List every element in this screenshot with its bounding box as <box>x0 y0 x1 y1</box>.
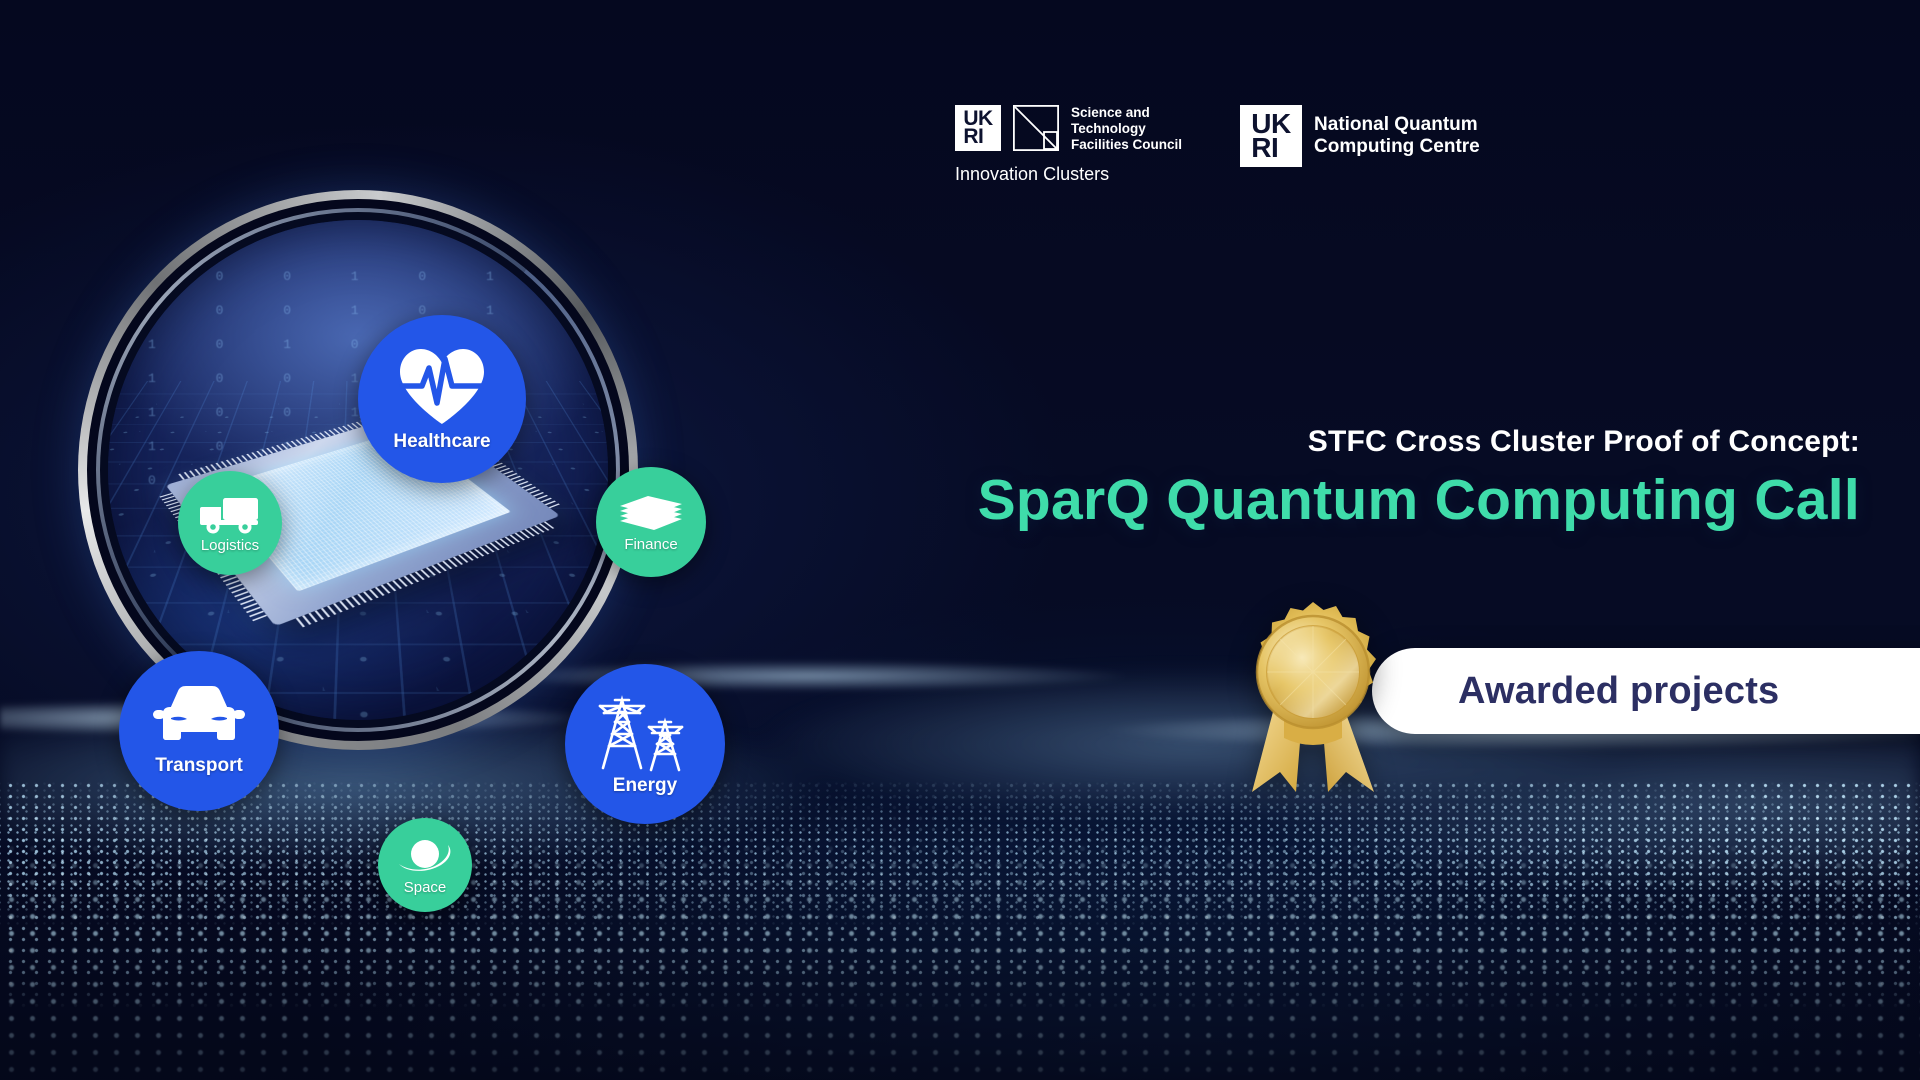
power-pylon-icon <box>595 692 695 772</box>
delivery-truck-icon <box>199 493 261 535</box>
sector-bubble-finance[interactable]: Finance <box>596 467 706 577</box>
headline-block: STFC Cross Cluster Proof of Concept: Spa… <box>740 425 1860 533</box>
nqcc-centre-name: National Quantum Computing Centre <box>1314 114 1480 159</box>
sector-label-energy: Energy <box>613 775 677 797</box>
circuit-board-disc: 1 0 0 1 0 1 1 0 0 1 0 1 1 0 1 0 0 1 1 0 … <box>108 220 608 720</box>
sector-bubble-energy[interactable]: Energy <box>565 664 725 824</box>
ukri-mark-icon: UKRI <box>1240 105 1302 167</box>
stfc-diagonal-glyph-icon <box>1013 105 1059 151</box>
sector-bubble-space[interactable]: Space <box>378 818 472 912</box>
logo-row-nqcc: UKRI National Quantum Computing Centre <box>1240 105 1480 167</box>
awarded-projects-label: Awarded projects <box>1458 670 1779 713</box>
logo-ukri-nqcc: UKRI National Quantum Computing Centre <box>1240 105 1480 167</box>
sector-label-finance: Finance <box>624 536 677 553</box>
logo-row-stfc: UKRI Science and Technology Facilities C… <box>955 105 1182 153</box>
particle-mesh-near <box>0 840 1920 1080</box>
sector-label-space: Space <box>404 879 447 896</box>
sector-label-healthcare: Healthcare <box>393 431 490 453</box>
logo-bar: UKRI Science and Technology Facilities C… <box>955 105 1480 185</box>
headline-eyebrow: STFC Cross Cluster Proof of Concept: <box>740 425 1860 459</box>
sector-label-logistics: Logistics <box>201 537 259 554</box>
innovation-clusters-label: Innovation Clusters <box>955 164 1109 185</box>
logo-ukri-stfc: UKRI Science and Technology Facilities C… <box>955 105 1182 185</box>
quantum-chip-graphic: 1 0 0 1 0 1 1 0 0 1 0 1 1 0 1 0 0 1 1 0 … <box>78 190 638 750</box>
sector-label-transport: Transport <box>155 755 243 777</box>
ukri-letters: UKRI <box>963 110 992 145</box>
awarded-projects-button[interactable]: Awarded projects <box>1372 648 1920 734</box>
stfc-council-name: Science and Technology Facilities Counci… <box>1071 105 1182 153</box>
planet-ringed-icon <box>396 834 454 878</box>
page-title: SparQ Quantum Computing Call <box>740 467 1860 533</box>
heart-pulse-icon <box>396 346 488 426</box>
banknotes-icon <box>618 492 684 534</box>
sector-bubble-transport[interactable]: Transport <box>119 651 279 811</box>
sector-bubble-healthcare[interactable]: Healthcare <box>358 315 526 483</box>
sector-bubble-logistics[interactable]: Logistics <box>178 471 282 575</box>
car-front-icon <box>152 685 246 751</box>
ukri-mark-icon: UKRI <box>955 105 1001 151</box>
ukri-letters: UKRI <box>1251 112 1290 159</box>
promotional-banner: 1 0 0 1 0 1 1 0 0 1 0 1 1 0 1 0 0 1 1 0 … <box>0 0 1920 1080</box>
